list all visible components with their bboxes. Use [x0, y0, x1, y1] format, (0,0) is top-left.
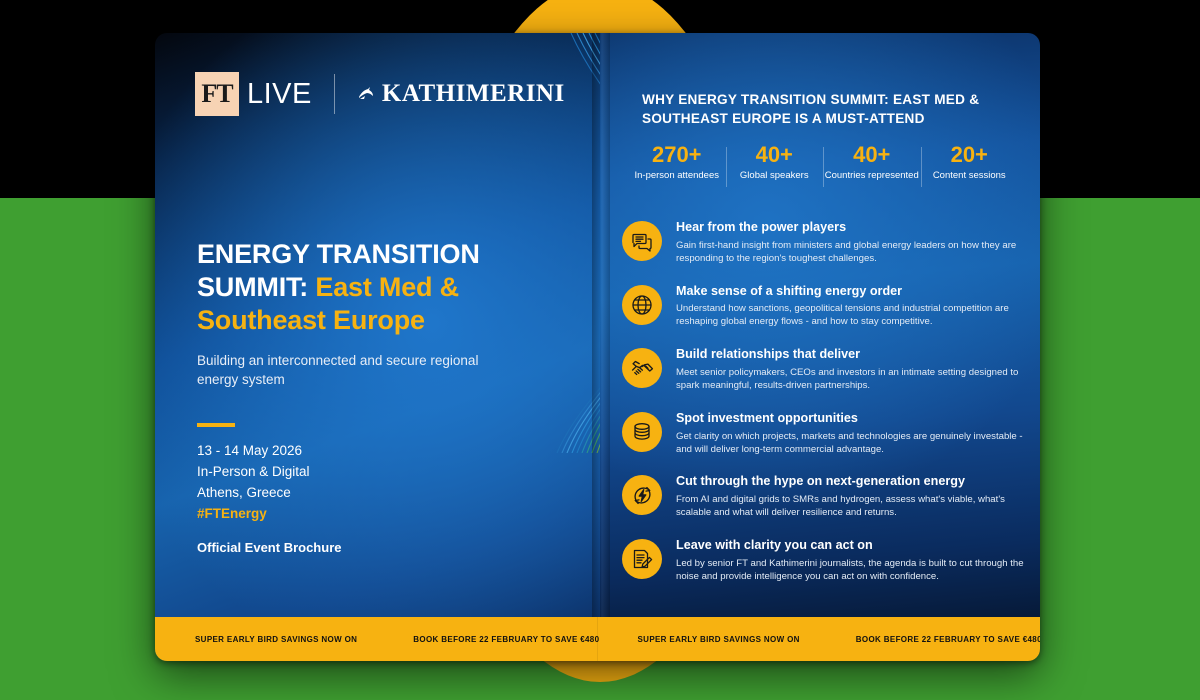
stat-item-3: 40+Countries represented	[823, 143, 921, 183]
lightning-bolt-icon	[622, 475, 662, 515]
benefit-item-5: Cut through the hype on next-generation …	[622, 473, 1037, 520]
ft-live-wordmark: LIVE	[247, 78, 312, 111]
coins-stack-icon	[622, 412, 662, 452]
benefit-text: Make sense of a shifting energy orderUnd…	[676, 283, 1037, 330]
document-pencil-icon	[622, 539, 662, 579]
brochure-right-page: WHY ENERGY TRANSITION SUMMIT: EAST MED &…	[600, 33, 1040, 661]
stat-number: 20+	[921, 143, 1019, 167]
benefit-description: Understand how sanctions, geopolitical t…	[676, 303, 1037, 329]
benefit-description: Get clarity on which projects, markets a…	[676, 431, 1037, 457]
benefit-title: Hear from the power players	[676, 220, 1037, 236]
benefit-description: Gain first-hand insight from ministers a…	[676, 240, 1037, 266]
promo-banner: SUPER EARLY BIRD SAVINGS NOW ON BOOK BEF…	[155, 617, 1040, 661]
speech-bubble-icon	[622, 221, 662, 261]
stat-number: 270+	[628, 143, 726, 167]
event-location: Athens, Greece	[197, 483, 310, 504]
benefit-title: Spot investment opportunities	[676, 411, 1037, 427]
benefit-text: Hear from the power playersGain first-ha…	[676, 219, 1037, 266]
stat-item-1: 270+In-person attendees	[628, 143, 726, 183]
event-format: In-Person & Digital	[197, 462, 310, 483]
yellow-accent-rule	[197, 423, 235, 427]
stat-item-2: 40+Global speakers	[726, 143, 824, 183]
logo-divider	[334, 74, 335, 114]
ft-logo-mark: FT	[195, 72, 239, 116]
benefit-text: Cut through the hype on next-generation …	[676, 473, 1037, 520]
title-line-2-white: SUMMIT:	[197, 272, 315, 302]
benefit-description: From AI and digital grids to SMRs and hy…	[676, 494, 1037, 520]
benefit-item-1: Hear from the power playersGain first-ha…	[622, 219, 1037, 266]
promo-banner-left-half: SUPER EARLY BIRD SAVINGS NOW ON BOOK BEF…	[155, 617, 598, 661]
stat-label: In-person attendees	[628, 170, 726, 183]
benefits-list: Hear from the power playersGain first-ha…	[622, 219, 1037, 601]
kathimerini-logo: KATHIMERINI	[357, 80, 565, 108]
stat-label: Global speakers	[726, 170, 824, 183]
promo-left-message-2: SUPER EARLY BIRD SAVINGS NOW ON	[638, 635, 800, 644]
benefit-item-6: Leave with clarity you can act onLed by …	[622, 537, 1037, 584]
benefit-title: Make sense of a shifting energy order	[676, 284, 1037, 300]
title-line-1: ENERGY TRANSITION	[197, 239, 480, 269]
brochure-left-page: FT LIVE KATHIMERINI ENERGY TRANSITION SU…	[155, 33, 600, 661]
handshake-icon	[622, 348, 662, 388]
stat-number: 40+	[823, 143, 921, 167]
benefit-item-3: Build relationships that deliverMeet sen…	[622, 346, 1037, 393]
stat-item-4: 20+Content sessions	[921, 143, 1019, 183]
brochure-label: Official Event Brochure	[197, 540, 341, 555]
benefit-description: Meet senior policymakers, CEOs and inves…	[676, 367, 1037, 393]
benefit-title: Leave with clarity you can act on	[676, 538, 1037, 554]
statistics-row: 270+In-person attendees40+Global speaker…	[628, 143, 1018, 183]
promo-right-message-1: BOOK BEFORE 22 FEBRUARY TO SAVE €480	[413, 635, 599, 644]
benefit-description: Led by senior FT and Kathimerini journal…	[676, 558, 1037, 584]
event-date: 13 - 14 May 2026	[197, 441, 310, 462]
promo-left-message-1: SUPER EARLY BIRD SAVINGS NOW ON	[195, 635, 357, 644]
stat-label: Countries represented	[823, 170, 921, 183]
event-brochure-spread: FT LIVE KATHIMERINI ENERGY TRANSITION SU…	[155, 33, 1040, 661]
benefit-text: Spot investment opportunitiesGet clarity…	[676, 410, 1037, 457]
benefit-text: Build relationships that deliverMeet sen…	[676, 346, 1037, 393]
promo-right-message-2: BOOK BEFORE 22 FEBRUARY TO SAVE €480	[856, 635, 1040, 644]
right-page-title: WHY ENERGY TRANSITION SUMMIT: EAST MED &…	[642, 90, 1012, 129]
title-line-3-accent: Southeast Europe	[197, 305, 425, 335]
brochure-spine-crease	[592, 33, 610, 661]
benefit-item-4: Spot investment opportunitiesGet clarity…	[622, 410, 1037, 457]
event-details: 13 - 14 May 2026 In-Person & Digital Ath…	[197, 441, 310, 525]
page-title: ENERGY TRANSITION SUMMIT: East Med & Sou…	[197, 238, 497, 337]
benefit-text: Leave with clarity you can act onLed by …	[676, 537, 1037, 584]
benefit-item-2: Make sense of a shifting energy orderUnd…	[622, 283, 1037, 330]
promo-banner-right-half: SUPER EARLY BIRD SAVINGS NOW ON BOOK BEF…	[598, 617, 1041, 661]
kathimerini-emblem-icon	[357, 85, 375, 103]
event-headline: ENERGY TRANSITION SUMMIT: East Med & Sou…	[197, 238, 497, 389]
benefit-title: Cut through the hype on next-generation …	[676, 474, 1037, 490]
event-hashtag: #FTEnergy	[197, 504, 310, 525]
brand-logos: FT LIVE KATHIMERINI	[195, 72, 565, 116]
benefit-title: Build relationships that deliver	[676, 347, 1037, 363]
globe-icon	[622, 285, 662, 325]
title-line-2-accent: East Med &	[315, 272, 459, 302]
stat-label: Content sessions	[921, 170, 1019, 183]
stat-number: 40+	[726, 143, 824, 167]
event-subtitle: Building an interconnected and secure re…	[197, 351, 497, 389]
kathimerini-wordmark: KATHIMERINI	[382, 80, 565, 108]
